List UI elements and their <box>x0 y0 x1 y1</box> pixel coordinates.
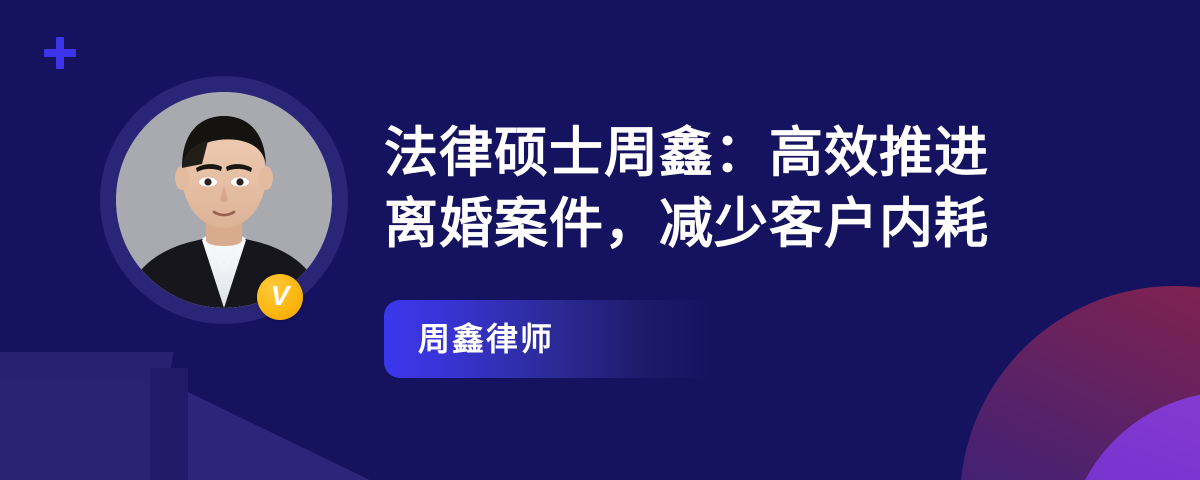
headline-block: 法律硕士周鑫：高效推进 离婚案件，减少客户内耗 <box>384 118 1084 261</box>
decorative-stem <box>150 368 188 480</box>
avatar: V <box>100 76 348 324</box>
promo-banner: V 法律硕士周鑫：高效推进 离婚案件，减少客户内耗 周鑫律师 <box>0 0 1200 480</box>
author-name-chip[interactable]: 周鑫律师 <box>384 300 714 378</box>
headline-line-2: 离婚案件，减少客户内耗 <box>384 189 1084 260</box>
headline-line-1: 法律硕士周鑫：高效推进 <box>384 118 1084 189</box>
verified-v-icon: V <box>257 274 303 320</box>
decorative-triangle <box>188 392 378 480</box>
plus-icon <box>44 37 76 69</box>
decorative-wedge-left <box>0 352 173 480</box>
page-title: 法律硕士周鑫：高效推进 离婚案件，减少客户内耗 <box>384 118 1084 261</box>
verified-badge-glyph: V <box>271 282 290 310</box>
author-name-label: 周鑫律师 <box>418 323 554 355</box>
avatar-photo <box>116 92 332 308</box>
